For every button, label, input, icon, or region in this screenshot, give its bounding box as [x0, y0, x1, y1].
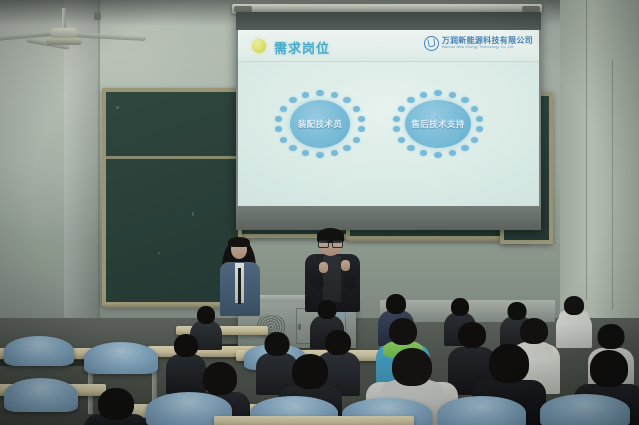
student-head	[325, 330, 351, 355]
badge-ring-dot	[393, 116, 401, 122]
badge-ring-dot	[289, 145, 297, 151]
badge-ring-dot	[280, 106, 288, 112]
blackboard-divider	[106, 156, 238, 159]
badge-ring-dot	[275, 116, 283, 122]
student-head	[564, 296, 584, 315]
seat	[4, 336, 74, 366]
badge-ring-dot	[302, 92, 310, 98]
student-head	[265, 332, 290, 356]
job-badge-core: 售后技术支持	[405, 100, 471, 148]
female-presenter	[218, 232, 262, 324]
badge-ring-dot	[407, 145, 415, 151]
lectern-handle	[298, 324, 301, 330]
company-logo-icon	[424, 36, 439, 51]
fan-rod	[62, 8, 66, 30]
badge-ring-dot	[420, 92, 428, 98]
badge-ring-dot	[461, 145, 469, 151]
projection-screen: 需求岗位 万润新能源科技有限公司 Wanrun New Energy Techn…	[236, 12, 541, 230]
badge-ring-dot	[434, 90, 442, 96]
badge-ring-dot	[398, 106, 406, 112]
presenter-hand-left	[319, 262, 328, 273]
badge-ring-dot	[398, 137, 406, 143]
student-head	[451, 298, 469, 316]
seat	[4, 378, 78, 412]
student-head	[318, 300, 337, 319]
fan-motor	[46, 38, 82, 45]
slide-title: 需求岗位	[274, 38, 330, 57]
screen-top-band	[236, 12, 541, 30]
job-badge-support: 售后技术支持	[390, 88, 486, 160]
badge-ring-dot	[275, 126, 283, 132]
seat	[438, 396, 526, 425]
student-head	[386, 294, 406, 314]
presenter-hand-right	[341, 260, 350, 271]
lecture-hall-photo: 需求岗位 万润新能源科技有限公司 Wanrun New Energy Techn…	[0, 0, 639, 425]
badge-ring-dot	[407, 97, 415, 103]
badge-ring-dot	[420, 150, 428, 156]
badge-ring-dot	[434, 152, 442, 158]
company-name-cn: 万润新能源科技有限公司	[442, 37, 533, 45]
badge-ring-dot	[331, 92, 339, 98]
student-head	[292, 354, 328, 389]
badge-ring-dot	[449, 150, 457, 156]
badge-ring-dot	[476, 126, 484, 132]
job-badge-label: 售后技术支持	[411, 118, 464, 130]
student-head	[489, 344, 529, 383]
student-head	[98, 388, 134, 420]
badge-ring-dot	[343, 145, 351, 151]
fan-mount	[94, 12, 101, 20]
right-wall-seam-2	[612, 60, 613, 310]
bag-strap	[238, 268, 241, 304]
company-logo: 万润新能源科技有限公司 Wanrun New Energy Technology…	[424, 36, 533, 51]
badge-ring-dot	[461, 97, 469, 103]
student-head	[203, 362, 237, 395]
job-badge-label: 装配技术员	[298, 118, 343, 130]
job-badge-core: 装配技术员	[290, 100, 350, 148]
job-badge-assembly: 装配技术员	[272, 88, 368, 160]
screen-bottom-band	[236, 206, 541, 230]
student-head	[174, 334, 198, 357]
yellow-dot-icon	[252, 39, 266, 53]
presentation-slide: 需求岗位 万润新能源科技有限公司 Wanrun New Energy Techn…	[238, 30, 539, 206]
student-head	[389, 318, 417, 345]
company-logo-text: 万润新能源科技有限公司 Wanrun New Energy Technology…	[442, 37, 533, 50]
right-wall	[560, 0, 639, 330]
student-head	[392, 348, 432, 386]
badge-ring-dot	[353, 106, 361, 112]
seat	[540, 394, 630, 425]
badge-ring-dot	[358, 116, 366, 122]
badge-ring-dot	[316, 90, 324, 96]
badge-ring-dot	[316, 152, 324, 158]
right-wall-seam	[586, 0, 587, 300]
badge-ring-dot	[343, 97, 351, 103]
ceiling-fan-icon	[10, 8, 130, 58]
student-head	[598, 324, 625, 349]
student	[84, 388, 148, 425]
badge-ring-dot	[280, 137, 288, 143]
student-head	[520, 318, 548, 344]
badge-ring-dot	[449, 92, 457, 98]
badge-ring-dot	[302, 150, 310, 156]
company-name-en: Wanrun New Energy Technology Co.,Ltd	[442, 46, 533, 50]
glasses-icon	[318, 240, 343, 246]
badge-ring-dot	[331, 150, 339, 156]
desk	[214, 416, 414, 425]
presenter-fringe	[228, 237, 250, 247]
student-head	[590, 350, 628, 387]
student-head	[197, 306, 215, 324]
badge-ring-dot	[476, 116, 484, 122]
student-white-hoodie	[556, 296, 592, 346]
badge-ring-dot	[471, 137, 479, 143]
badge-ring-dot	[471, 106, 479, 112]
badge-ring-dot	[358, 126, 366, 132]
badge-ring-dot	[289, 97, 297, 103]
slide-header-rule	[238, 61, 539, 62]
seat	[84, 342, 158, 374]
badge-ring-dot	[353, 137, 361, 143]
badge-ring-dot	[393, 126, 401, 132]
